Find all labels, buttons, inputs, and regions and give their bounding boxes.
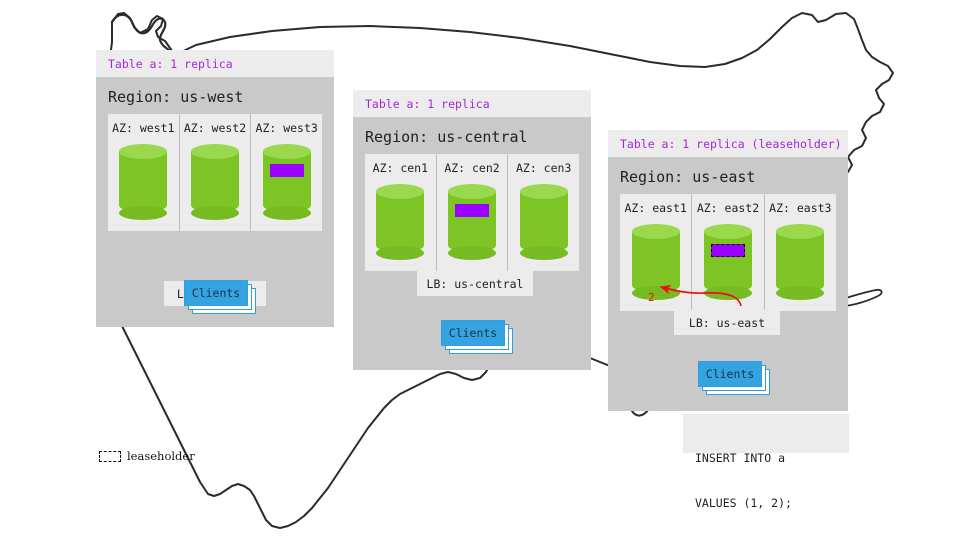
clients-button-label: Clients <box>449 326 497 340</box>
az-strip-us-central: AZ: cen1 AZ: cen2 AZ: cen3 <box>365 154 579 271</box>
load-balancer-label: LB: us-east <box>689 316 765 330</box>
az-strip-us-west: AZ: west1 AZ: west2 AZ: west3 <box>108 114 322 231</box>
cylinder-base <box>448 246 496 260</box>
cylinder-body <box>119 151 167 213</box>
load-balancer-us-east[interactable]: LB: us-east <box>674 310 780 335</box>
cylinder-top <box>704 224 752 239</box>
az-label: AZ: west2 <box>184 121 246 135</box>
az-cell-west3[interactable]: AZ: west3 <box>251 114 322 231</box>
az-cell-cen3[interactable]: AZ: cen3 <box>508 154 579 271</box>
node-cylinder-cen3[interactable] <box>520 184 568 260</box>
diagram-canvas: Table a: 1 replica Region: us-west AZ: w… <box>0 0 960 540</box>
region-panel-us-west: Table a: 1 replica Region: us-west AZ: w… <box>96 50 334 327</box>
load-balancer-label: LB: us-central <box>427 277 524 291</box>
cylinder-top <box>520 184 568 199</box>
node-cylinder-east2[interactable] <box>704 224 752 300</box>
clients-stack-us-central: Clients <box>441 320 505 346</box>
cylinder-top <box>263 144 311 159</box>
cylinder-body <box>263 151 311 213</box>
cylinder-body <box>376 191 424 253</box>
az-label: AZ: east2 <box>697 201 759 215</box>
cylinder-body <box>191 151 239 213</box>
region-header-us-central: Table a: 1 replica <box>353 90 591 117</box>
region-panel-us-central: Table a: 1 replica Region: us-central AZ… <box>353 90 591 370</box>
az-label: AZ: cen2 <box>444 161 499 175</box>
az-cell-west1[interactable]: AZ: west1 <box>108 114 180 231</box>
region-title-us-central: Region: us-central <box>365 128 528 146</box>
cylinder-top <box>376 184 424 199</box>
region-header-label: Table a: 1 replica (leaseholder) <box>620 137 842 151</box>
cylinder-base <box>520 246 568 260</box>
clients-button-us-east[interactable]: Clients <box>698 361 762 387</box>
region-header-us-east: Table a: 1 replica (leaseholder) <box>608 130 848 157</box>
sql-statement-box: INSERT INTO a VALUES (1, 2); <box>683 414 849 453</box>
region-title-us-west: Region: us-west <box>108 88 243 106</box>
node-cylinder-west2[interactable] <box>191 144 239 220</box>
az-label: AZ: cen1 <box>373 161 428 175</box>
az-cell-east1[interactable]: AZ: east1 <box>620 194 692 311</box>
clients-button-label: Clients <box>706 367 754 381</box>
clients-button-label: Clients <box>192 286 240 300</box>
leaseholder-dashed-swatch <box>99 451 121 462</box>
load-balancer-us-central[interactable]: LB: us-central <box>417 271 533 296</box>
cylinder-base <box>376 246 424 260</box>
cylinder-body <box>704 231 752 293</box>
cylinder-top <box>448 184 496 199</box>
clients-stack-us-west: Clients <box>184 280 248 306</box>
az-cell-cen1[interactable]: AZ: cen1 <box>365 154 437 271</box>
cylinder-top <box>119 144 167 159</box>
region-header-label: Table a: 1 replica <box>108 57 233 71</box>
az-label: AZ: east1 <box>625 201 687 215</box>
cylinder-base <box>191 206 239 220</box>
sql-line-1: INSERT INTO a <box>695 451 839 466</box>
az-cell-east3[interactable]: AZ: east3 <box>765 194 836 311</box>
az-label: AZ: west3 <box>256 121 318 135</box>
cylinder-body <box>448 191 496 253</box>
cylinder-base <box>263 206 311 220</box>
cylinder-base <box>704 286 752 300</box>
az-label: AZ: west1 <box>112 121 174 135</box>
node-cylinder-east3[interactable] <box>776 224 824 300</box>
legend-leaseholder: leaseholder <box>99 449 195 463</box>
cylinder-body <box>632 231 680 293</box>
sql-line-2: VALUES (1, 2); <box>695 496 839 511</box>
clients-button-us-west[interactable]: Clients <box>184 280 248 306</box>
cylinder-body <box>776 231 824 293</box>
legend-label: leaseholder <box>127 449 195 463</box>
node-cylinder-west1[interactable] <box>119 144 167 220</box>
cylinder-body <box>520 191 568 253</box>
az-cell-west2[interactable]: AZ: west2 <box>180 114 252 231</box>
annotation-step-label: 2 <box>648 291 655 304</box>
region-title-us-east: Region: us-east <box>620 168 755 186</box>
node-cylinder-cen2[interactable] <box>448 184 496 260</box>
region-header-label: Table a: 1 replica <box>365 97 490 111</box>
cylinder-base <box>776 286 824 300</box>
cylinder-top <box>776 224 824 239</box>
node-cylinder-east1[interactable] <box>632 224 680 300</box>
replica-block-cen2 <box>455 204 489 217</box>
cylinder-top <box>191 144 239 159</box>
clients-stack-us-east: Clients <box>698 361 762 387</box>
replica-block-east2-leaseholder <box>711 244 745 257</box>
az-label: AZ: cen3 <box>516 161 571 175</box>
region-header-us-west: Table a: 1 replica <box>96 50 334 77</box>
clients-button-us-central[interactable]: Clients <box>441 320 505 346</box>
replica-block-west3 <box>270 164 304 177</box>
node-cylinder-cen1[interactable] <box>376 184 424 260</box>
cylinder-base <box>119 206 167 220</box>
region-panel-us-east: Table a: 1 replica (leaseholder) Region:… <box>608 130 848 411</box>
az-cell-cen2[interactable]: AZ: cen2 <box>437 154 509 271</box>
cylinder-base <box>632 286 680 300</box>
az-label: AZ: east3 <box>769 201 831 215</box>
az-cell-east2[interactable]: AZ: east2 <box>692 194 764 311</box>
node-cylinder-west3[interactable] <box>263 144 311 220</box>
cylinder-top <box>632 224 680 239</box>
